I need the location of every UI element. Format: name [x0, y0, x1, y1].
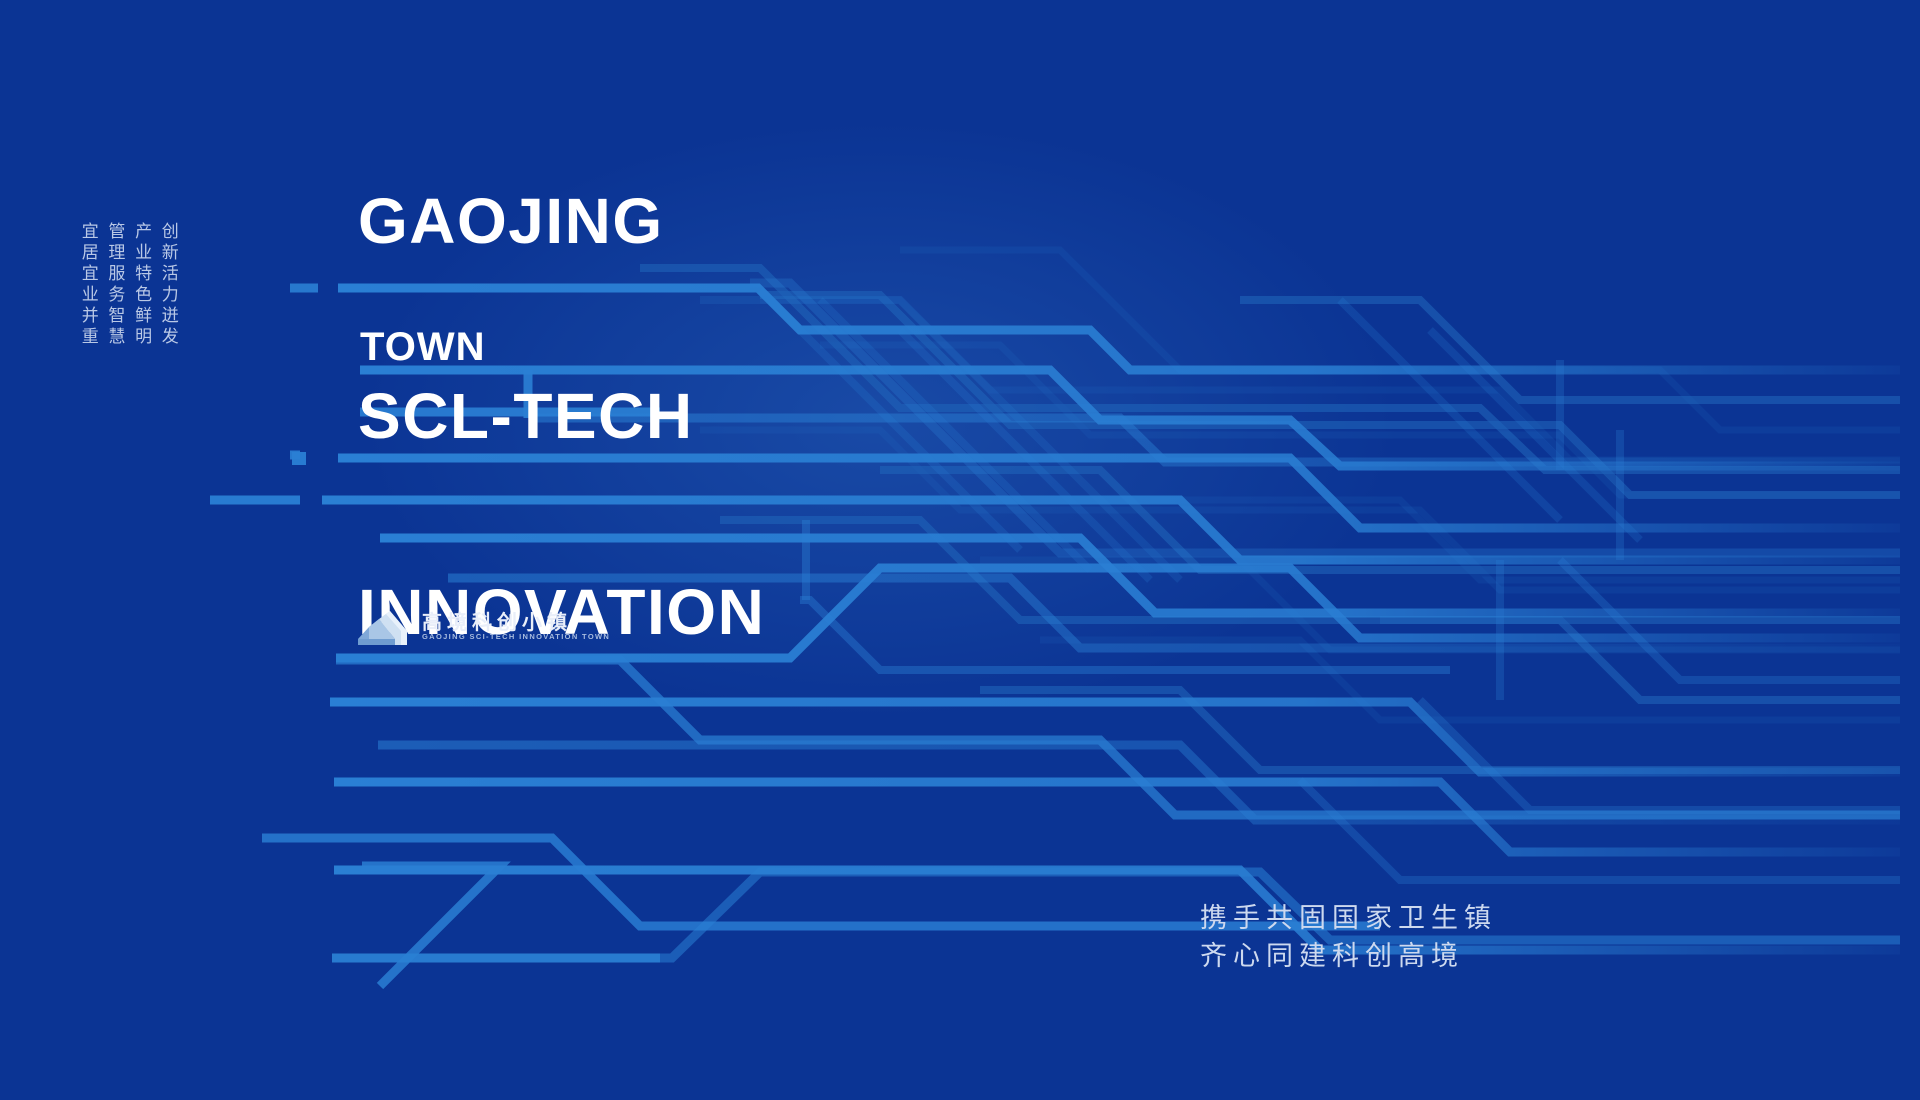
poster-canvas: GAOJING SCL-TECH INNOVATION TOWN 创新活力迸发 …	[0, 0, 1920, 1100]
circuit-background	[0, 0, 1920, 1100]
logo-lockup: 高境科创小镇 GAOJING SCI-TECH INNOVATION TOWN	[357, 605, 610, 647]
vertical-tagline-column-1: 创新活力迸发	[158, 222, 177, 348]
logo-text-block: 高境科创小镇 GAOJING SCI-TECH INNOVATION TOWN	[422, 612, 610, 641]
headline-subtitle: TOWN	[360, 325, 485, 370]
headline-line-1: GAOJING	[358, 189, 765, 254]
headline-line-2: SCL-TECH	[358, 384, 765, 449]
vertical-tagline-column-4: 宜居宜业并重	[78, 222, 97, 348]
vertical-tagline-column-2: 产业特色鲜明	[131, 222, 150, 348]
slogan: 携手共固国家卫生镇 齐心同建科创高境	[1200, 900, 1497, 977]
logo-english-name: GAOJING SCI-TECH INNOVATION TOWN	[422, 633, 610, 641]
page-title: GAOJING SCL-TECH INNOVATION	[358, 58, 765, 776]
vertical-tagline-column-3: 管理服务智慧	[105, 222, 124, 348]
logo-chinese-name: 高境科创小镇	[422, 612, 610, 632]
slogan-line-2: 齐心同建科创高境	[1200, 938, 1497, 976]
slogan-line-1: 携手共固国家卫生镇	[1200, 900, 1497, 938]
vertical-tagline: 创新活力迸发 产业特色鲜明 管理服务智慧 宜居宜业并重	[78, 222, 177, 348]
house-building-icon	[357, 605, 413, 647]
